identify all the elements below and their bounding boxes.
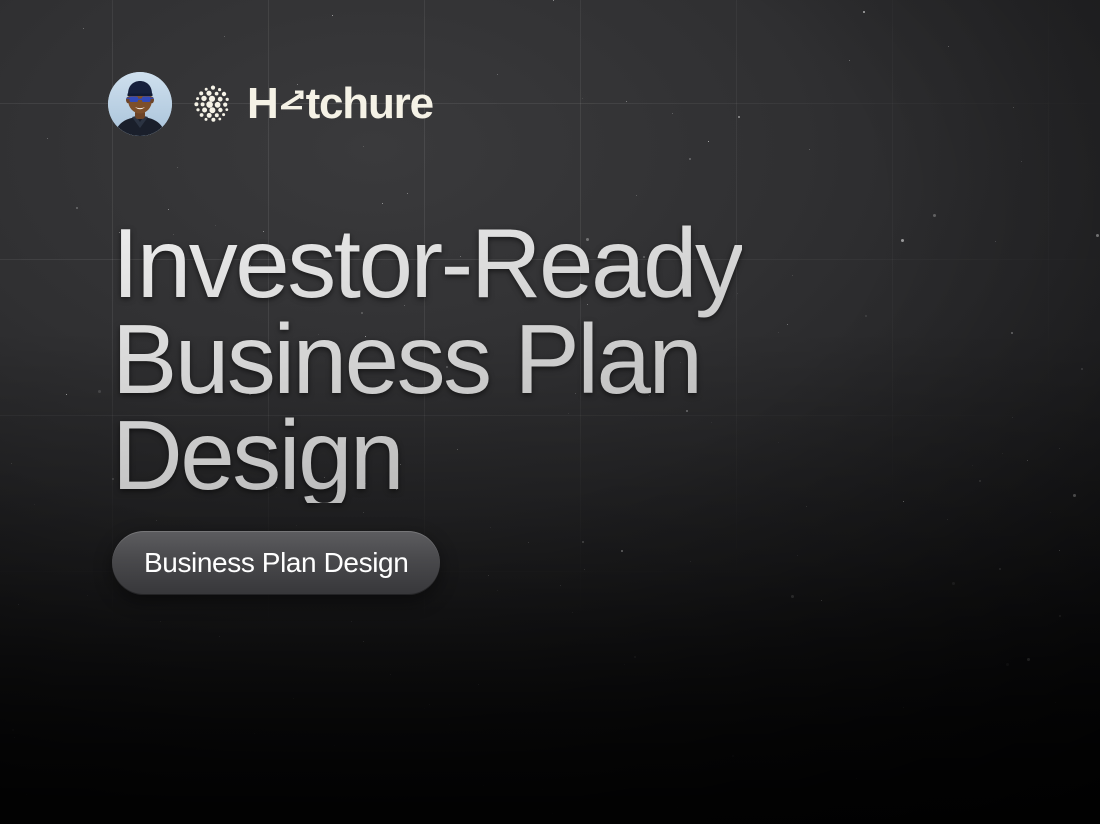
star-dot bbox=[907, 791, 908, 792]
star-dot bbox=[224, 36, 225, 37]
star-dot bbox=[870, 680, 871, 681]
star-dot bbox=[792, 275, 793, 276]
star-dot bbox=[1013, 107, 1014, 108]
star-dot bbox=[690, 561, 691, 562]
star-dot bbox=[706, 821, 708, 823]
star-dot bbox=[1050, 512, 1051, 513]
star-dot bbox=[1059, 615, 1061, 617]
star-dot bbox=[584, 569, 585, 570]
star-dot bbox=[363, 146, 364, 147]
star-dot bbox=[933, 214, 936, 217]
hatchure-dot-sphere-logo-icon bbox=[192, 83, 234, 125]
star-dot bbox=[497, 590, 498, 591]
star-dot bbox=[424, 708, 425, 709]
star-dot bbox=[488, 575, 489, 576]
star-dot bbox=[1012, 417, 1013, 418]
star-dot bbox=[984, 742, 985, 743]
star-dot bbox=[948, 46, 949, 47]
star-dot bbox=[334, 745, 335, 746]
star-dot bbox=[351, 621, 352, 622]
brand-wordmark: Htchure bbox=[247, 82, 433, 126]
star-dot bbox=[390, 674, 391, 675]
star-dot bbox=[1011, 332, 1013, 334]
star-dot bbox=[972, 465, 973, 466]
star-dot bbox=[708, 141, 709, 142]
star-dot bbox=[1006, 663, 1009, 666]
brand-wordmark-prefix: H bbox=[247, 82, 278, 126]
star-dot bbox=[1021, 161, 1022, 162]
star-dot bbox=[98, 390, 101, 393]
star-dot bbox=[371, 817, 373, 819]
star-dot bbox=[1056, 796, 1057, 797]
star-dot bbox=[621, 550, 623, 552]
star-dot bbox=[66, 394, 67, 395]
star-dot bbox=[732, 755, 734, 757]
star-dot bbox=[806, 506, 807, 507]
star-dot bbox=[160, 621, 161, 622]
star-dot bbox=[47, 138, 48, 139]
star-dot bbox=[75, 816, 76, 817]
star-dot bbox=[856, 778, 857, 779]
star-dot bbox=[1073, 494, 1076, 497]
star-dot bbox=[281, 789, 282, 790]
star-dot bbox=[634, 656, 636, 658]
star-dot bbox=[791, 595, 794, 598]
star-dot bbox=[177, 167, 178, 168]
star-dot bbox=[1059, 550, 1060, 551]
star-dot bbox=[483, 785, 484, 786]
star-dot bbox=[553, 0, 554, 1]
star-dot bbox=[277, 774, 278, 775]
star-dot bbox=[626, 101, 627, 102]
star-dot bbox=[787, 324, 788, 325]
star-dot bbox=[582, 98, 583, 99]
star-dot bbox=[296, 525, 297, 526]
star-dot bbox=[1059, 448, 1060, 449]
star-dot bbox=[363, 512, 364, 513]
star-dot bbox=[1002, 453, 1003, 454]
star-dot bbox=[582, 541, 584, 543]
star-dot bbox=[11, 463, 12, 464]
star-dot bbox=[363, 641, 364, 642]
star-dot bbox=[903, 501, 904, 502]
logo-lockup: Htchure bbox=[192, 82, 433, 126]
star-dot bbox=[809, 149, 810, 150]
star-dot bbox=[778, 332, 779, 333]
star-dot bbox=[542, 789, 543, 790]
star-dot bbox=[995, 241, 996, 242]
page-title: Investor-Ready Business Plan Design bbox=[112, 215, 742, 503]
star-dot bbox=[156, 520, 157, 521]
star-dot bbox=[83, 28, 84, 29]
star-dot bbox=[254, 733, 255, 734]
star-dot bbox=[572, 612, 573, 613]
avatar-photo-icon bbox=[108, 72, 172, 136]
star-dot bbox=[689, 158, 691, 160]
star-dot bbox=[979, 480, 981, 482]
star-dot bbox=[677, 807, 678, 808]
star-dot bbox=[87, 595, 88, 596]
star-dot bbox=[560, 585, 561, 586]
star-dot bbox=[865, 315, 867, 317]
star-dot bbox=[952, 582, 955, 585]
star-dot bbox=[407, 193, 408, 194]
star-dot bbox=[1096, 234, 1099, 237]
star-dot bbox=[478, 684, 479, 685]
star-dot bbox=[76, 207, 78, 209]
star-dot bbox=[26, 794, 27, 795]
star-dot bbox=[619, 738, 620, 739]
brand-wordmark-suffix: tchure bbox=[306, 82, 433, 126]
star-dot bbox=[46, 817, 47, 818]
star-dot bbox=[429, 704, 430, 705]
star-dot bbox=[219, 636, 220, 637]
star-dot bbox=[490, 527, 491, 528]
star-dot bbox=[497, 74, 498, 75]
star-dot bbox=[1081, 368, 1083, 370]
star-dot bbox=[624, 664, 625, 665]
brand-wordmark-arrow-a-icon bbox=[279, 85, 305, 119]
star-dot bbox=[849, 60, 850, 61]
star-dot bbox=[947, 519, 948, 520]
star-dot bbox=[863, 11, 865, 13]
star-dot bbox=[790, 791, 791, 792]
star-dot bbox=[332, 15, 333, 16]
star-dot bbox=[738, 116, 740, 118]
star-dot bbox=[797, 555, 798, 556]
brand-header: Htchure bbox=[108, 72, 433, 136]
star-dot bbox=[1055, 702, 1056, 703]
star-dot bbox=[1027, 658, 1030, 661]
star-dot bbox=[528, 542, 529, 543]
star-dot bbox=[449, 724, 450, 725]
star-dot bbox=[903, 707, 904, 708]
star-dot bbox=[999, 568, 1001, 570]
star-dot bbox=[34, 504, 35, 505]
category-tag[interactable]: Business Plan Design bbox=[112, 531, 440, 595]
star-dot bbox=[382, 203, 383, 204]
star-dot bbox=[778, 442, 779, 443]
star-dot bbox=[636, 195, 637, 196]
avatar bbox=[108, 72, 172, 136]
star-dot bbox=[1027, 460, 1028, 461]
star-dot bbox=[14, 737, 15, 738]
slide-canvas: Htchure Investor-Ready Business Plan Des… bbox=[0, 0, 1100, 824]
star-dot bbox=[12, 729, 14, 731]
star-dot bbox=[709, 674, 710, 675]
star-dot bbox=[18, 604, 19, 605]
star-dot bbox=[624, 788, 625, 789]
star-dot bbox=[901, 239, 904, 242]
star-dot bbox=[538, 809, 539, 810]
star-dot bbox=[910, 757, 911, 758]
star-dot bbox=[552, 813, 553, 814]
star-dot bbox=[672, 113, 673, 114]
star-dot bbox=[293, 698, 294, 699]
category-tag-label: Business Plan Design bbox=[144, 547, 408, 579]
star-dot bbox=[821, 600, 822, 601]
